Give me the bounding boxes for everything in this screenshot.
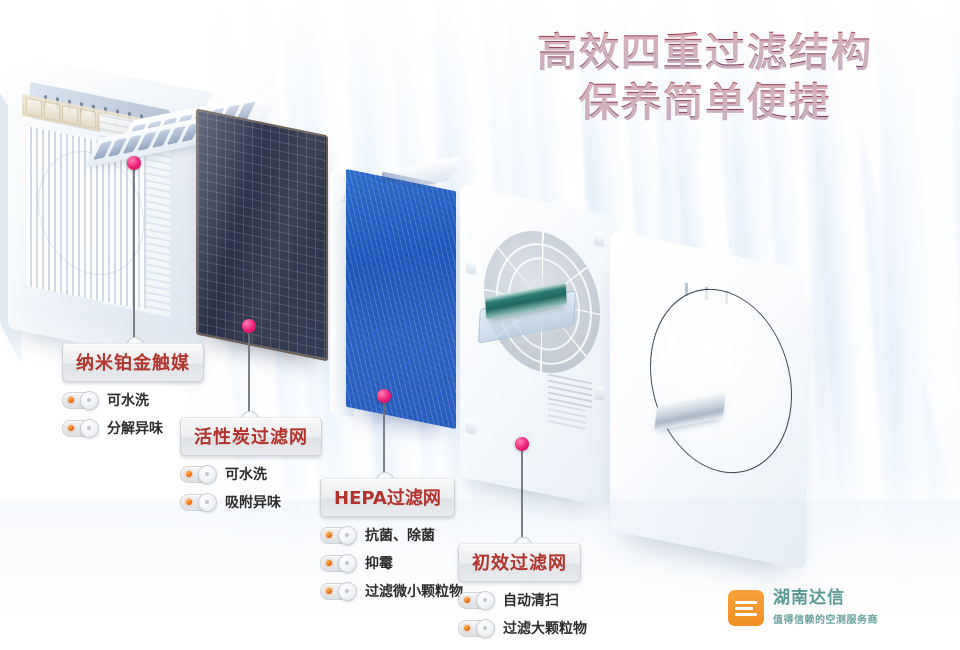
logo-chevron-icon <box>728 590 764 626</box>
toggle-indicator <box>180 466 216 483</box>
toggle-indicator <box>320 527 356 544</box>
prefilter-clip-left-bottom <box>466 419 476 435</box>
feature-label: 过滤大颗粒物 <box>503 618 587 638</box>
feature-label: 吸附异味 <box>225 492 281 512</box>
feature-item: 吸附异味 <box>180 492 322 512</box>
callout-hepa[interactable]: HEPA过滤网 抗菌、除菌 抑霉 过滤微小颗粒物 <box>320 478 463 601</box>
feature-item: 自动清扫 <box>458 590 587 610</box>
brand-logo[interactable]: 湖南达信 值得信赖的空测服务商 <box>728 590 878 626</box>
feature-label: 自动清扫 <box>503 590 559 610</box>
headline-line-2: 保养简单便捷 <box>480 78 930 128</box>
feature-label: 可水洗 <box>225 464 267 484</box>
feature-label: 可水洗 <box>107 390 149 410</box>
headline: 高效四重过滤结构 保养简单便捷 <box>480 28 930 129</box>
feature-item: 抗菌、除菌 <box>320 525 463 545</box>
feature-item: 过滤大颗粒物 <box>458 618 587 638</box>
toggle-indicator <box>320 555 356 572</box>
toggle-indicator <box>62 392 98 409</box>
logo-text-block: 湖南达信 值得信赖的空测服务商 <box>773 590 878 626</box>
prefilter-clip-left-top <box>466 259 476 275</box>
feature-label: 过滤微小颗粒物 <box>365 581 463 601</box>
carbon-filter-highlight <box>196 109 324 357</box>
promo-image: 高效四重过滤结构 保养简单便捷 纳米铂金触媒 可水洗 分解异味 活性炭过滤 <box>0 0 960 650</box>
feature-label: 抑霉 <box>365 553 393 573</box>
callout-activated-carbon[interactable]: 活性炭过滤网 可水洗 吸附异味 <box>180 417 322 512</box>
callout-title-prefilter: 初效过滤网 <box>458 543 581 582</box>
toggle-indicator <box>458 620 494 637</box>
toggle-indicator <box>180 494 216 511</box>
logo-company-name: 湖南达信 <box>773 590 878 608</box>
callout-title-hepa: HEPA过滤网 <box>320 478 455 517</box>
callout-prefilter[interactable]: 初效过滤网 自动清扫 过滤大颗粒物 <box>458 543 587 638</box>
callout-title-activated-carbon: 活性炭过滤网 <box>180 417 322 456</box>
toggle-indicator <box>320 583 356 600</box>
feature-item: 过滤微小颗粒物 <box>320 581 463 601</box>
toggle-indicator <box>458 592 494 609</box>
hepa-filter-panel <box>346 169 456 429</box>
callout-title-nano-platinum: 纳米铂金触媒 <box>62 343 204 382</box>
toggle-indicator <box>62 420 98 437</box>
feature-item: 可水洗 <box>62 390 204 410</box>
feature-item: 抑霉 <box>320 553 463 573</box>
headline-line-1: 高效四重过滤结构 <box>480 28 930 78</box>
prefilter-clip-right-bottom <box>594 385 604 401</box>
prefilter-clip-right-top <box>594 231 604 247</box>
feature-item: 可水洗 <box>180 464 322 484</box>
feature-label: 抗菌、除菌 <box>365 525 435 545</box>
logo-slogan: 值得信赖的空测服务商 <box>773 611 878 626</box>
feature-label: 分解异味 <box>107 418 163 438</box>
